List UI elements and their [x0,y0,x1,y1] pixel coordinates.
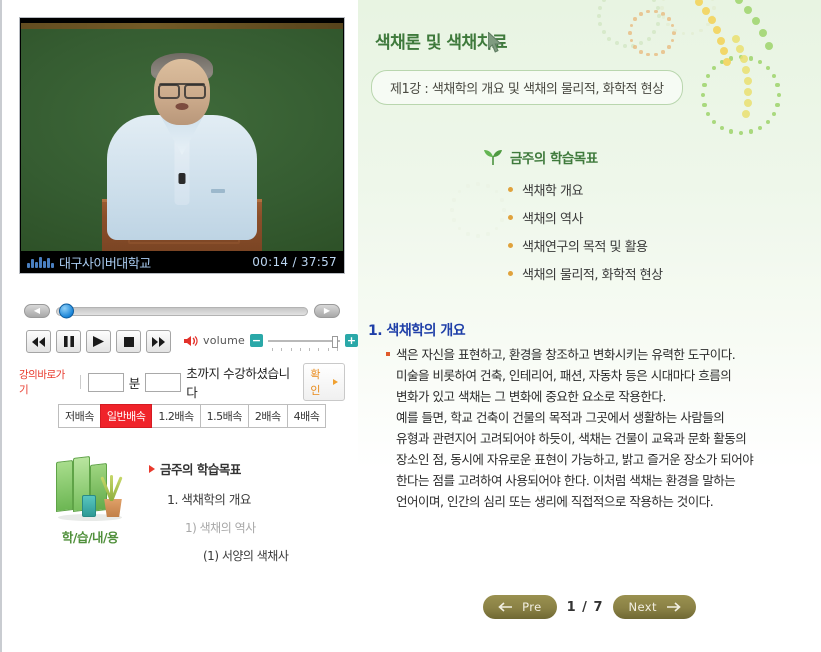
shirt-pocket [211,189,225,193]
toc-active-arrow-icon [149,465,155,473]
goal-item-label: 색채연구의 목적 및 활용 [522,236,648,255]
decorative-dot [702,7,710,15]
volume-control[interactable]: volume − + [184,334,358,347]
player-panel: 대구사이버대학교 00:14 / 37:57 ◀ ▶ [0,0,358,652]
decorative-dot [652,30,656,34]
toc-icon-group: 학/습/내/용 [47,455,133,564]
speaker-icon [184,335,198,347]
sprout-icon [483,149,503,165]
confirm-button[interactable]: 확인 [303,363,345,401]
rewind-button[interactable] [26,330,51,353]
decorative-dot [706,74,711,79]
decorative-dot [602,30,606,34]
fast-forward-button[interactable] [146,330,171,353]
decorative-dot [607,37,611,41]
minutes-unit: 분 [129,373,141,392]
decorative-dot [661,50,665,54]
section-heading: 1. 색채학의 개요 [368,320,465,340]
decorative-dot [682,32,686,36]
goal-item-3: 색채의 물리적, 화학적 현상 [508,264,663,283]
decorative-dot [615,41,619,45]
decorative-dot [673,29,677,33]
decorative-dot [766,120,771,125]
decorative-dot [500,198,504,202]
decorative-dot [654,10,658,14]
seek-bar-row[interactable]: ◀ ▶ [24,302,340,320]
pagination: Pre 1 / 7 Next [358,595,821,619]
decorative-dot [662,0,666,1]
volume-slider[interactable] [268,336,340,346]
bullet-icon [508,271,513,276]
seek-backward-icon[interactable]: ◀ [24,304,50,318]
speed-button-4[interactable]: 2배속 [248,404,288,428]
decorative-dot [598,6,602,10]
decorative-dot [646,10,650,14]
decorative-dot [667,17,671,21]
pause-button[interactable] [56,330,81,353]
minutes-input[interactable] [88,373,124,392]
speed-button-5[interactable]: 4배속 [287,404,327,428]
seek-track[interactable] [56,307,308,316]
decorative-dot [486,232,490,236]
decorative-dot [500,218,504,222]
toc-item-label: 금주의 학습목표 [160,459,241,478]
decorative-dot [639,41,643,45]
decorative-dot [744,6,752,14]
attendance-row: 강의바로가기 분 초까지 수강하셨습니다 확인 [19,368,345,396]
decorative-dot [702,83,707,88]
transport-controls [26,330,171,353]
decorative-dot [623,44,627,48]
decorative-dot [656,6,660,10]
decorative-dot [652,0,656,2]
goals-list: 색채학 개요색채의 역사색채연구의 목적 및 활용색채의 물리적, 화학적 현상 [508,180,663,283]
decorative-dot [740,55,748,63]
toc-item-label: 1) 색채의 역사 [185,519,256,536]
decorative-dot [476,234,480,238]
decorative-dot [772,112,777,117]
decorative-dot [717,37,725,45]
bullet-icon [508,215,513,220]
decorative-dot [729,129,734,134]
lecturer-mouth [176,103,189,110]
prev-page-button[interactable]: Pre [483,595,556,619]
decorative-dot [742,110,750,118]
decorative-dot [466,232,470,236]
toc-item-0[interactable]: 금주의 학습목표 [149,459,337,478]
decorative-dot [712,120,717,125]
next-page-button[interactable]: Next [613,595,695,619]
decorative-dot [452,218,456,222]
arrow-left-icon [498,602,513,612]
goals-heading-row: 금주의 학습목표 [483,147,598,167]
decorative-dot [713,26,721,34]
equalizer-icon [27,256,54,268]
stop-button[interactable] [116,330,141,353]
decorative-dot [691,32,695,36]
seconds-input[interactable] [145,373,181,392]
prev-page-label: Pre [522,600,541,614]
decorative-dot [736,45,744,53]
seek-forward-icon[interactable]: ▶ [314,304,340,318]
decorative-dot [712,6,716,10]
decorative-dot [639,50,643,54]
decorative-dot [708,16,716,24]
decorative-dot [744,88,752,96]
confirm-label: 확인 [310,366,330,398]
decorative-dot [639,12,643,16]
toc-icon-label: 학/습/내/용 [62,527,118,546]
content-panel: 색채론 및 색채치료 제1강 : 색채학의 개요 및 색채의 물리적, 화학적 … [358,0,821,652]
goal-item-label: 색채의 물리적, 화학적 현상 [522,264,663,283]
toc-item-label: (1) 서양의 색채사 [203,547,288,564]
goal-item-1: 색채의 역사 [508,208,663,227]
goto-lecture-link[interactable]: 강의바로가기 [19,367,73,397]
decorative-dot [720,126,725,131]
decorative-dot [628,31,632,35]
toc-item-2[interactable]: 1) 색채의 역사 [149,519,337,536]
divider [80,375,81,389]
mouse-cursor-icon [488,32,504,54]
decorative-dot [654,53,658,57]
decorative-dot [671,24,675,28]
toc-item-label: 1. 색채학의 개요 [167,489,251,508]
decorative-dot [706,112,711,117]
toc-item-1[interactable]: 1. 색채학의 개요 [149,489,337,508]
decorative-dot [647,37,651,41]
decorative-dot [744,77,752,85]
decorative-dot [695,0,703,6]
speed-button-2[interactable]: 1.2배속 [151,404,200,428]
decorative-dot [744,99,752,107]
decorative-dot [766,66,771,71]
decorative-dot [633,45,637,49]
decorative-dot [495,227,499,231]
decorative-dot [630,24,634,28]
decorative-dot [752,17,760,25]
books-plant-icon [52,455,128,521]
decorative-dot [775,103,780,108]
toc-item-3[interactable]: (1) 서양의 색채사 [149,547,337,564]
playback-speed-buttons: 저배속일반배속1.2배속1.5배속2배속4배속 [59,404,326,428]
decorative-dot [775,83,780,88]
decorative-dot [777,93,782,98]
decorative-dot [660,6,664,10]
goals-heading: 금주의 학습목표 [510,147,598,167]
content-paragraph: 색은 자신을 표현하고, 환경을 창조하고 변화시키는 유력한 도구이다. 미술… [396,344,753,512]
bullet-icon [508,187,513,192]
decorative-dot [662,15,666,19]
decorative-dot [458,190,462,194]
volume-up-button[interactable]: + [345,334,358,347]
triangle-icon [333,379,338,385]
decorative-dot [656,22,660,26]
decorative-dot [598,22,602,26]
decorative-dot [466,184,470,188]
page-indicator: 1 / 7 [567,600,604,615]
video-frame [21,23,343,251]
goal-item-0: 색채학 개요 [508,180,663,199]
table-of-contents: 학/습/내/용 금주의 학습목표1. 색채학의 개요1) 색채의 역사(1) 서… [47,455,337,564]
video-status-bar: 대구사이버대학교 00:14 / 37:57 [21,251,343,273]
decorative-dot [749,56,754,61]
decorative-dot [666,23,670,27]
time-display: 00:14 / 37:57 [252,255,337,269]
glasses-icon [159,83,205,94]
decorative-dot [495,190,499,194]
video-top-strip [21,23,343,29]
volume-ticks [272,348,338,351]
decorative-dot [671,39,675,43]
toc-list: 금주의 학습목표1. 색채학의 개요1) 색채의 역사(1) 서양의 색채사 [149,455,337,564]
speed-button-0[interactable]: 저배속 [58,404,101,428]
lecture-viewer: 대구사이버대학교 00:14 / 37:57 ◀ ▶ [0,0,821,652]
decorative-dot [476,182,480,186]
volume-handle[interactable] [332,336,338,348]
lesson-subtitle: 제1강 : 색채학의 개요 및 색채의 물리적, 화학적 현상 [371,70,683,105]
speed-button-3[interactable]: 1.5배속 [200,404,249,428]
video-player[interactable]: 대구사이버대학교 00:14 / 37:57 [19,17,345,274]
goal-item-2: 색채연구의 목적 및 활용 [508,236,663,255]
decorative-dot [749,129,754,134]
decorative-dot [630,39,634,43]
seek-handle[interactable] [59,304,74,319]
decorative-dot [486,184,490,188]
decorative-dot [712,66,717,71]
goal-item-label: 색채학 개요 [522,180,583,199]
decorative-dot [458,227,462,231]
decorative-dot [711,0,715,1]
decorative-dot [633,17,637,21]
decorative-dot [723,58,731,66]
arrow-right-icon [666,602,681,612]
decorative-dot [452,198,456,202]
attendance-text: 초까지 수강하셨습니다 [186,363,298,401]
volume-down-button[interactable]: − [250,334,263,347]
decorative-dot [646,53,650,57]
decorative-dot [502,208,506,212]
decorative-dot [667,45,671,49]
play-button[interactable] [86,330,111,353]
decorative-dot [758,126,763,131]
paragraph-bullet-icon [386,352,390,356]
decorative-dot [735,0,743,4]
next-page-label: Next [628,600,656,614]
decorative-dot [758,60,763,65]
decorative-dot [759,29,767,37]
decorative-dot [602,0,606,2]
decorative-dot [765,42,773,50]
station-name: 대구사이버대학교 [59,253,151,272]
decorative-dot [597,14,601,18]
decorative-dot [720,47,728,55]
lapel-mic [179,173,186,184]
decorative-dot [739,131,744,136]
goal-item-label: 색채의 역사 [522,208,583,227]
speed-button-1[interactable]: 일반배속 [100,404,152,428]
decorative-dot [742,66,750,74]
decorative-dot [732,35,740,43]
decorative-dot [702,103,707,108]
decorative-dot [772,74,777,79]
decorative-dot [701,93,706,98]
volume-label: volume [203,334,245,347]
decorative-dot [450,208,454,212]
bullet-icon [508,243,513,248]
decorative-dot [699,29,703,33]
content-paragraph-block: 색은 자신을 표현하고, 환경을 창조하고 변화시키는 유력한 도구이다. 미술… [386,344,816,512]
